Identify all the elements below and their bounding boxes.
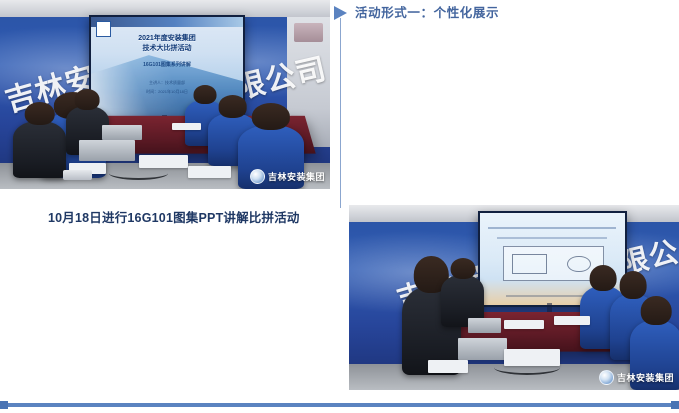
photo-ppt-presentation-competition: 吉林安装 有限公司 Co., Ltd. 2021年度安装集团 技术大比拼活动 1… [0,0,330,189]
divider-cap-right [671,401,679,409]
slide-header-band [91,17,243,27]
section-header: 活动形式一：个性化展示 [334,5,499,21]
company-logo-icon [599,370,614,385]
person [13,121,66,178]
laptop [102,125,142,140]
slide-subheading-rule [497,237,607,239]
photo-technical-drawing-review: 吉林安装 有限公 [349,205,679,390]
vertical-rule [340,18,341,208]
paper-document [428,360,468,373]
slide-title-line2: 技术大比拼活动 [91,44,243,54]
paper-document [504,320,544,329]
photo-scene: 吉林安装 有限公司 Co., Ltd. 2021年度安装集团 技术大比拼活动 1… [0,0,330,189]
photo-caption: 10月18日进行16G101图集PPT讲解比拼活动 [48,207,300,226]
watermark: 吉林安装集团 [250,169,325,184]
slide-footer: 主讲人：技术质量部 时间：2021年10月18日 [91,79,243,96]
projector [63,170,93,179]
bottom-divider [8,403,671,407]
paper-document [188,166,231,177]
laptop [458,338,508,360]
slide-footer-line2: 时间：2021年10月18日 [91,88,243,96]
company-logo-icon [250,169,265,184]
slide-footer-line1: 主讲人：技术质量部 [91,79,243,87]
watermark-text: 吉林安装集团 [268,170,325,183]
paper-document [172,123,202,131]
section-header-title: 活动形式一：个性化展示 [355,5,499,21]
slide-technical-drawing [503,246,604,281]
page-root: 吉林安装 有限公司 Co., Ltd. 2021年度安装集团 技术大比拼活动 1… [0,0,679,413]
watermark-text: 吉林安装集团 [617,371,674,384]
watermark: 吉林安装集团 [599,370,674,385]
slide-title: 2021年度安装集团 技术大比拼活动 [91,34,243,54]
air-conditioner [294,23,324,42]
laptop [79,140,135,161]
paper-document [554,316,590,325]
laptop [468,318,501,333]
photo-scene: 吉林安装 有限公 [349,205,679,390]
slide-subtitle: 16G101图集系列讲解 [91,61,243,70]
slide-title-line1: 2021年度安装集团 [91,34,243,44]
cable [109,166,168,179]
slide-heading-rule [488,227,616,229]
divider-cap-left [0,401,8,409]
